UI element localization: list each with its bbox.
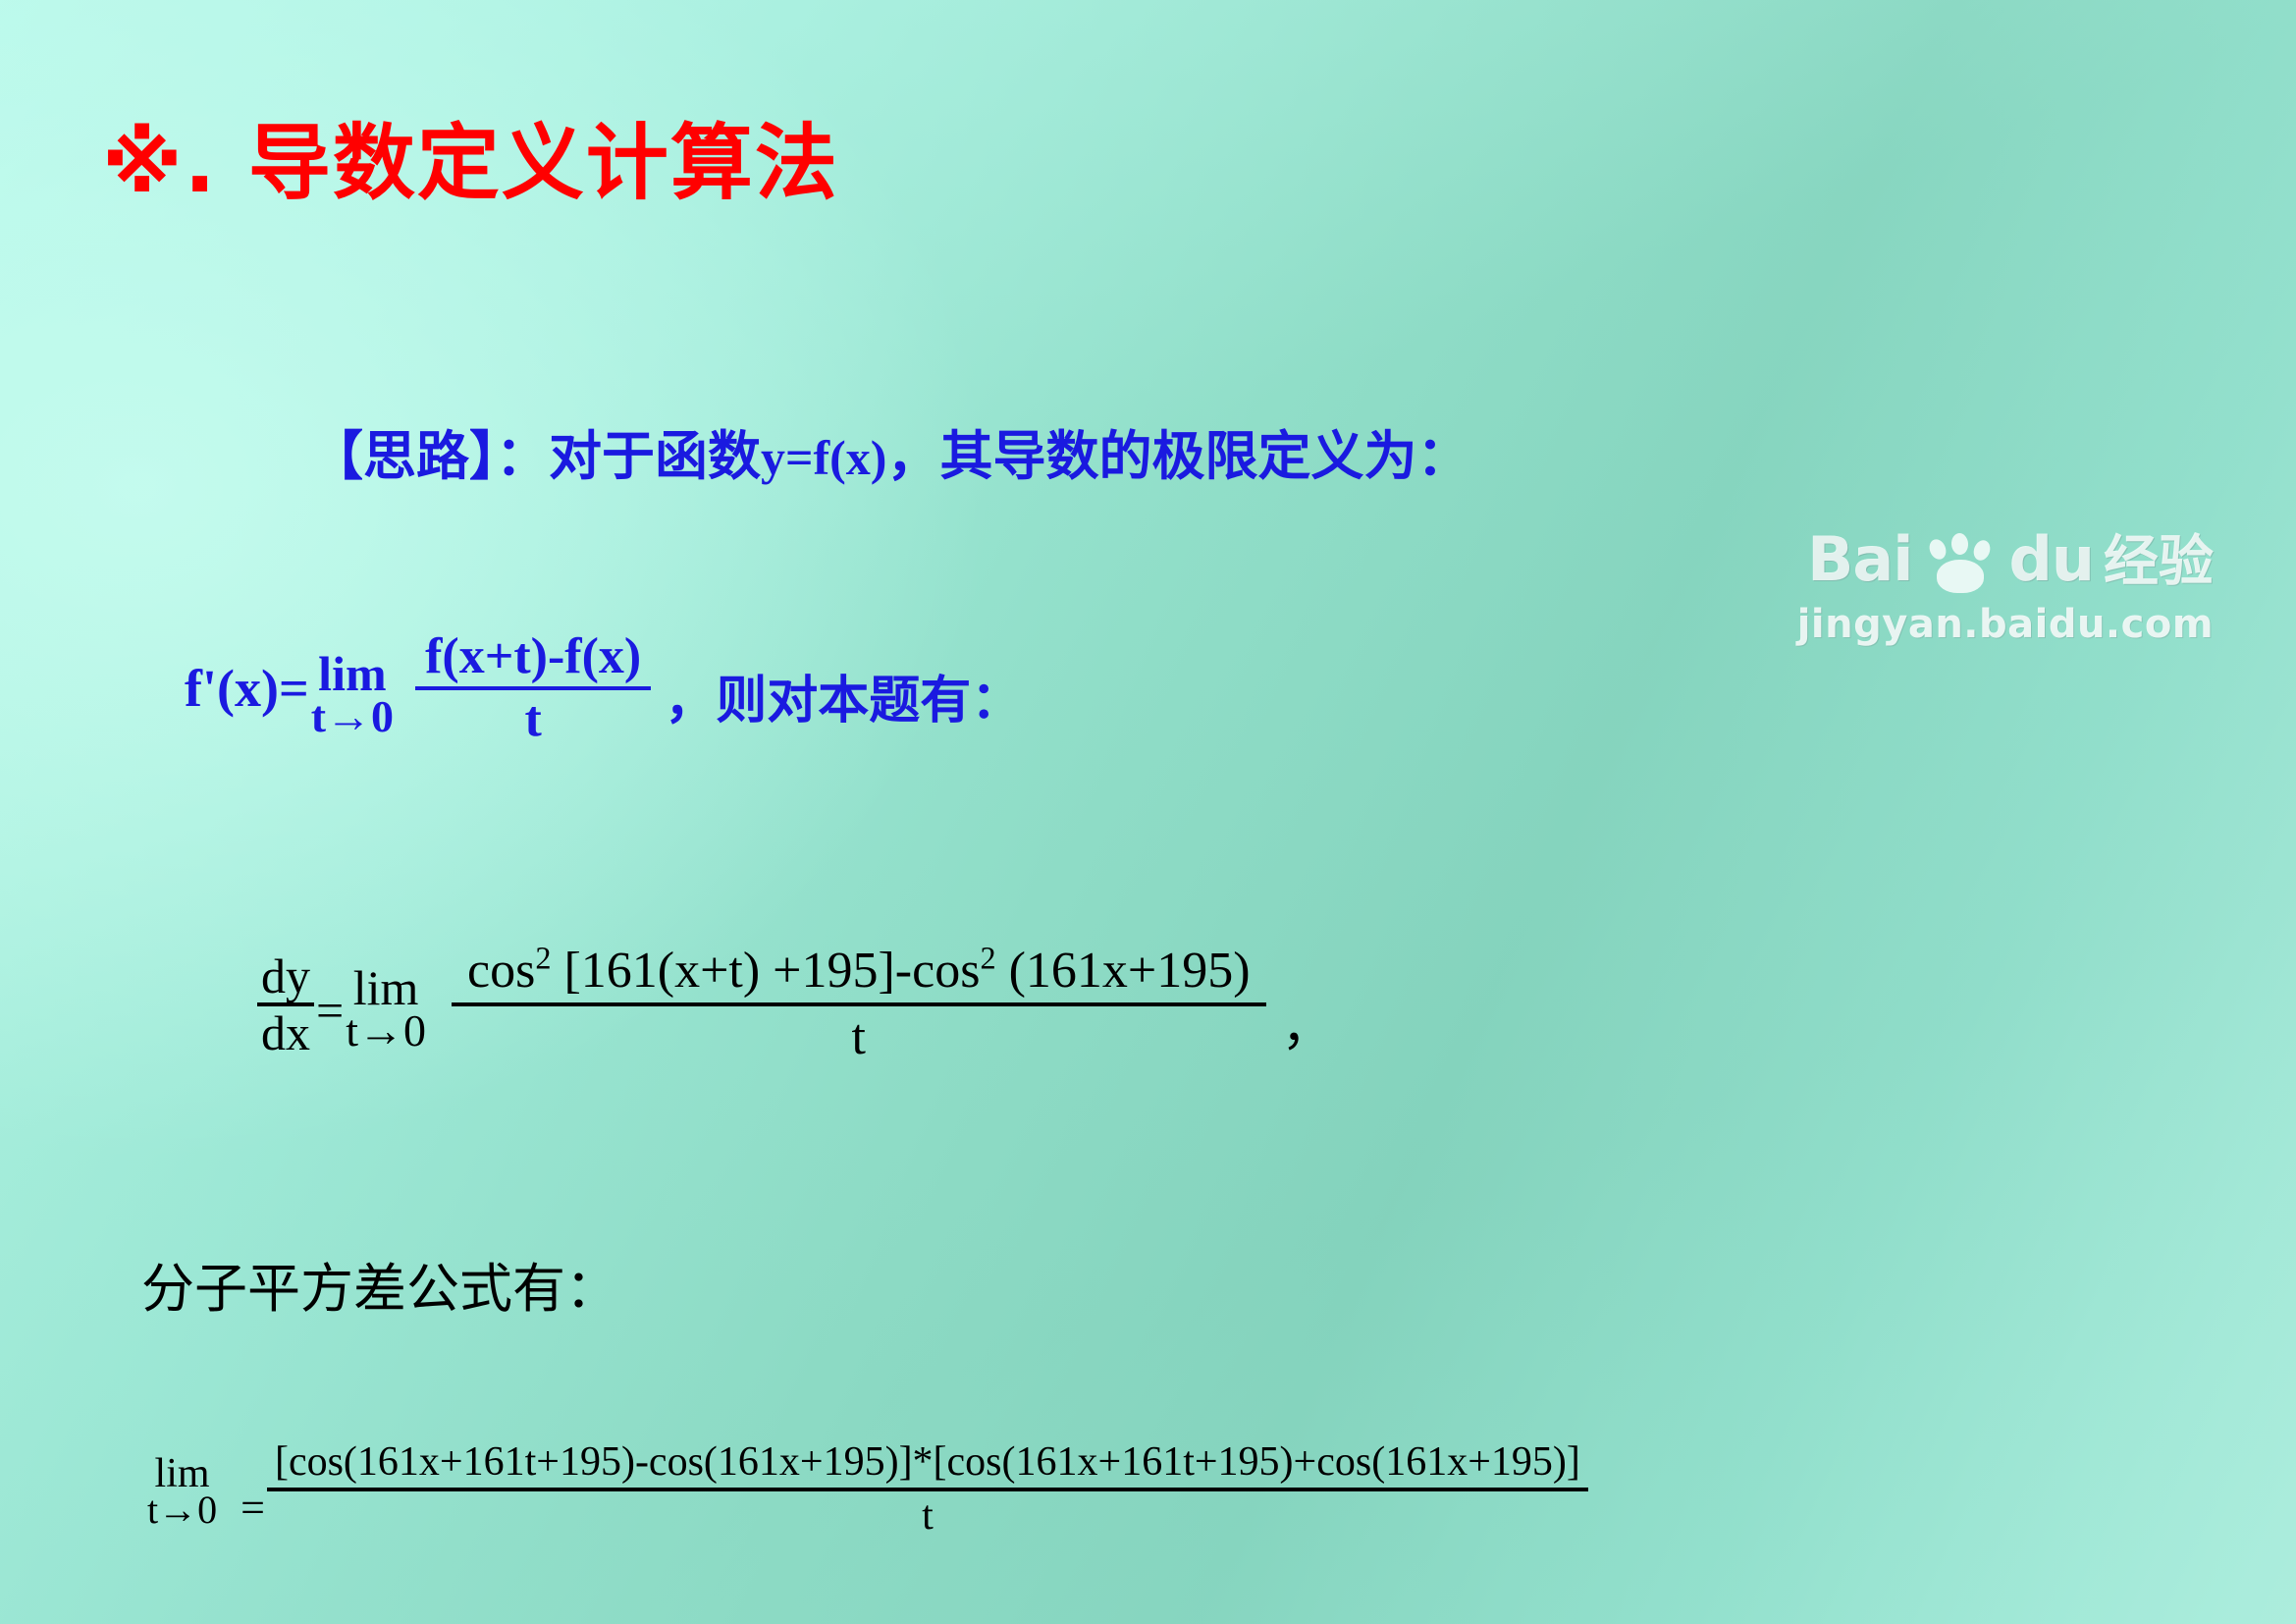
expansion-numerator: [cos(161x+161t+195)-cos(161x+195)]*[cos(… <box>267 1440 1588 1488</box>
idea-line: 【思路】：对于函数y=f(x)，其导数的极限定义为： <box>310 428 2296 484</box>
watermark-url: jingyan.baidu.com <box>0 602 2214 647</box>
derivative-equals: = <box>316 982 344 1039</box>
derivative-lim-under: t→0 <box>346 1008 426 1054</box>
dx-denominator: dx <box>257 1006 314 1059</box>
numerator-exponent-2: 2 <box>980 941 995 976</box>
baidu-watermark: Bai du 经验 jingyan.baidu.com <box>0 529 2214 647</box>
derivative-formula: dy dx = lim t→0 cos2 [161(x+t) +195]-cos… <box>257 944 2296 1065</box>
idea-function: y=f(x) <box>761 430 886 485</box>
idea-label: 【思路】： <box>310 424 549 487</box>
derivative-fraction: cos2 [161(x+t) +195]-cos2 (161x+195) t <box>452 944 1266 1065</box>
watermark-du-text: du <box>2008 529 2094 590</box>
derivative-denominator: t <box>836 1006 881 1065</box>
expansion-equals: = <box>240 1483 265 1533</box>
idea-text-before: 对于函数 <box>549 424 761 487</box>
square-difference-note: 分子平方差公式有： <box>141 1260 2296 1318</box>
paw-print-icon <box>1924 533 1997 594</box>
idea-text-after: ，其导数的极限定义为： <box>886 424 1469 487</box>
expansion-formula: lim t→0 = [cos(161x+161t+195)-cos(161x+1… <box>147 1440 2296 1540</box>
numerator-end: (161x+195) <box>996 943 1251 999</box>
definition-tail-text: ，则对本题有： <box>665 659 1022 732</box>
expansion-lim-under: t→0 <box>147 1490 217 1530</box>
derivative-limit: lim t→0 <box>346 963 426 1054</box>
watermark-cn-text: 经验 <box>2104 535 2214 590</box>
definition-lim-under: t→0 <box>311 694 394 739</box>
numerator-mid: [161(x+t) +195]-cos <box>551 943 980 999</box>
expansion-fraction: [cos(161x+161t+195)-cos(161x+195)]*[cos(… <box>267 1440 1588 1540</box>
definition-limit: lim t→0 <box>311 649 394 739</box>
dy-numerator: dy <box>257 949 314 1002</box>
numerator-cos-1: cos <box>467 943 535 999</box>
dy-dx-fraction: dy dx <box>257 949 314 1059</box>
slide-canvas: ※. 导数定义计算法 【思路】：对于函数y=f(x)，其导数的极限定义为： f'… <box>0 0 2296 1624</box>
numerator-exponent-1: 2 <box>535 941 551 976</box>
watermark-bai-text: Bai <box>1807 529 1912 590</box>
derivative-numerator: cos2 [161(x+t) +195]-cos2 (161x+195) <box>452 944 1266 1002</box>
expansion-limit: lim t→0 <box>147 1453 217 1530</box>
expansion-denominator: t <box>914 1491 941 1539</box>
watermark-brand-row: Bai du 经验 <box>0 529 2214 590</box>
definition-denominator: t <box>514 690 551 747</box>
derivative-trailing-comma: ， <box>1282 986 1333 1059</box>
page-title: ※. 导数定义计算法 <box>102 122 2296 204</box>
definition-lhs: f'(x)= <box>185 662 309 715</box>
